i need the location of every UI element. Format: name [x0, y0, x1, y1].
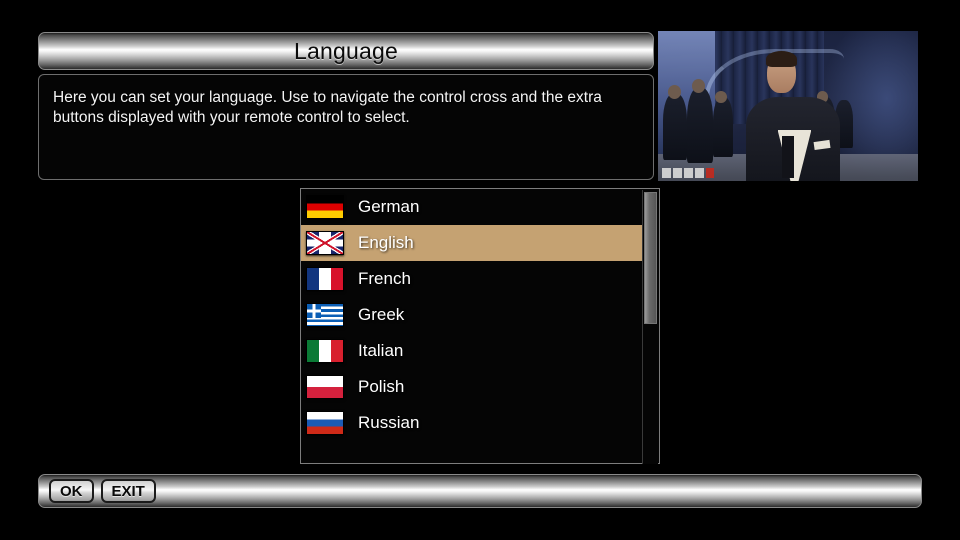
language-list-item-label: Russian — [358, 413, 419, 433]
language-list-panel: GermanEnglishFrenchGreekItalianPolishRus… — [300, 188, 660, 464]
page-title: Language — [294, 38, 398, 65]
preview-crowd-head — [668, 85, 681, 99]
scrollbar-thumb[interactable] — [644, 192, 657, 324]
flag-fr-icon — [306, 267, 344, 291]
flag-de-icon — [306, 195, 344, 219]
language-list-item-label: Polish — [358, 377, 404, 397]
flag-gr-icon — [306, 303, 344, 327]
live-tv-preview[interactable] — [658, 31, 918, 181]
language-list-item-label: Greek — [358, 305, 404, 325]
language-list-item-label: English — [358, 233, 414, 253]
preview-crowd-figure — [713, 97, 734, 157]
language-list-item-label: German — [358, 197, 419, 217]
flag-it-icon — [306, 339, 344, 363]
description-text: Here you can set your language. Use to n… — [53, 88, 639, 128]
osd-screen: Language Here you can set your language.… — [0, 0, 960, 540]
softkey-bar: OK EXIT — [38, 474, 922, 508]
language-list-scrollbar[interactable] — [642, 190, 658, 464]
flag-ru-icon — [306, 411, 344, 435]
ok-button-label: OK — [60, 483, 83, 500]
preview-crowd-figure — [687, 88, 713, 163]
preview-pocket-square — [814, 139, 830, 149]
language-list-item-label: Italian — [358, 341, 403, 361]
flag-pl-icon — [306, 375, 344, 399]
preview-crowd-head — [692, 79, 705, 93]
language-list-item[interactable]: Polish — [301, 369, 643, 405]
description-box: Here you can set your language. Use to n… — [38, 74, 654, 180]
flag-gb-icon — [306, 231, 344, 255]
language-list-item-label: French — [358, 269, 411, 289]
language-list-item[interactable]: Italian — [301, 333, 643, 369]
preview-crowd-head — [715, 91, 727, 103]
language-list-item[interactable]: Greek — [301, 297, 643, 333]
language-list: GermanEnglishFrenchGreekItalianPolishRus… — [301, 189, 643, 441]
window-title-bar: Language — [38, 32, 654, 70]
ok-button[interactable]: OK — [49, 479, 94, 503]
language-list-item[interactable]: English — [301, 225, 643, 261]
language-list-item[interactable]: German — [301, 189, 643, 225]
preview-reporter-tie — [782, 136, 794, 178]
preview-reporter-hair — [766, 51, 797, 68]
exit-button-label: EXIT — [112, 483, 145, 500]
preview-crowd-figure — [663, 94, 686, 160]
exit-button[interactable]: EXIT — [101, 479, 156, 503]
language-list-item[interactable]: French — [301, 261, 643, 297]
language-list-item[interactable]: Russian — [301, 405, 643, 441]
news-channel-logo — [662, 167, 714, 178]
